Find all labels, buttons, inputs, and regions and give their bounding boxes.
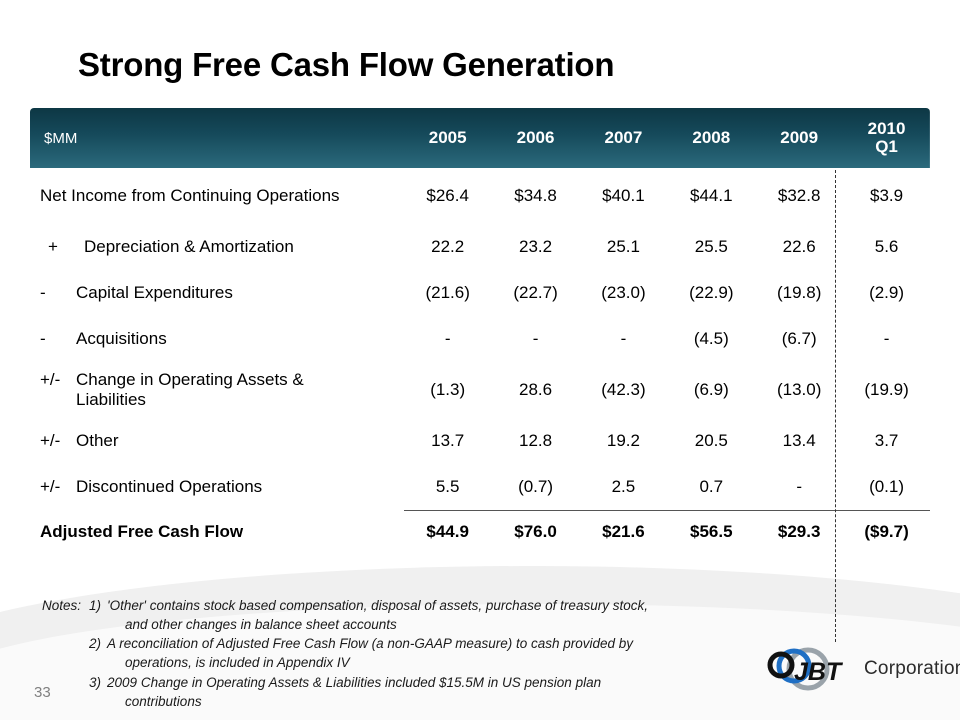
cell-capex-2010q1: (2.9) — [843, 270, 930, 316]
row-sign: +/- — [30, 477, 76, 497]
table-header-row: $MM 2005 2006 2007 2008 2009 2010 Q1 — [30, 108, 930, 168]
cell-other-2008: 20.5 — [667, 418, 755, 464]
cell-discontinued-2007: 2.5 — [579, 464, 667, 510]
cell-change-2006: 28.6 — [492, 362, 580, 418]
cell-change-2005: (1.3) — [404, 362, 492, 418]
cell-capex-2006: (22.7) — [492, 270, 580, 316]
note-body: 2009 Change in Operating Assets & Liabil… — [107, 673, 802, 711]
note-item: 2) A reconciliation of Adjusted Free Cas… — [89, 634, 802, 672]
row-label-acquisitions: -Acquisitions — [30, 316, 404, 362]
slide-canvas: Strong Free Cash Flow Generation $MM 200… — [0, 0, 960, 720]
note-body: 'Other' contains stock based compensatio… — [107, 596, 802, 634]
cell-discontinued-2010q1: (0.1) — [843, 464, 930, 510]
column-header-unit: $MM — [30, 108, 404, 168]
table-row: +/-Other 13.7 12.8 19.2 20.5 13.4 3.7 — [30, 418, 930, 464]
cell-total-2008: $56.5 — [667, 510, 755, 554]
cell-other-2009: 13.4 — [755, 418, 843, 464]
cell-change-2007: (42.3) — [579, 362, 667, 418]
row-label-text: Capital Expenditures — [76, 283, 233, 303]
note-number: 3) — [89, 673, 107, 711]
table-total-row: Adjusted Free Cash Flow $44.9 $76.0 $21.… — [30, 510, 930, 554]
cell-acquisitions-2005: - — [404, 316, 492, 362]
column-header-2005: 2005 — [404, 108, 492, 168]
note-number: 1) — [89, 596, 107, 634]
row-label-other: +/-Other — [30, 418, 404, 464]
notes-list: 1) 'Other' contains stock based compensa… — [89, 596, 802, 711]
row-label-text: Net Income from Continuing Operations — [30, 186, 340, 206]
svg-text:JBT: JBT — [794, 658, 844, 686]
page-number: 33 — [34, 684, 51, 701]
quarter-column-divider — [835, 170, 836, 642]
logo-wordmark: Corporation — [864, 658, 960, 680]
cell-change-2009: (13.0) — [755, 362, 843, 418]
cell-capex-2007: (23.0) — [579, 270, 667, 316]
cell-discontinued-2005: 5.5 — [404, 464, 492, 510]
notes-block: Notes: 1) 'Other' contains stock based c… — [42, 596, 802, 711]
cell-capex-2009: (19.8) — [755, 270, 843, 316]
row-sign: +/- — [30, 370, 76, 390]
row-sign: + — [30, 237, 84, 257]
cell-discontinued-2008: 0.7 — [667, 464, 755, 510]
cash-flow-table: $MM 2005 2006 2007 2008 2009 2010 Q1 — [30, 108, 930, 554]
row-sign: +/- — [30, 431, 76, 451]
table-body: Net Income from Continuing Operations $2… — [30, 168, 930, 554]
row-label-text: Change in Operating Assets & Liabilities — [76, 370, 371, 410]
table-row: +/-Change in Operating Assets & Liabilit… — [30, 362, 930, 418]
cell-net-income-2008: $44.1 — [667, 168, 755, 224]
cell-acquisitions-2010q1: - — [843, 316, 930, 362]
cell-other-2005: 13.7 — [404, 418, 492, 464]
column-header-2009: 2009 — [755, 108, 843, 168]
cell-depreciation-2009: 22.6 — [755, 224, 843, 270]
row-label-text: Discontinued Operations — [76, 477, 262, 497]
cell-discontinued-2009: - — [755, 464, 843, 510]
column-header-2010-quarter: Q1 — [843, 138, 930, 156]
note-line: contributions — [107, 692, 802, 711]
column-header-2010-year: 2010 — [843, 120, 930, 138]
column-header-2006: 2006 — [492, 108, 580, 168]
column-header-2010-q1: 2010 Q1 — [843, 108, 930, 168]
cell-depreciation-2005: 22.2 — [404, 224, 492, 270]
cell-depreciation-2006: 23.2 — [492, 224, 580, 270]
cell-acquisitions-2007: - — [579, 316, 667, 362]
row-label-discontinued-operations: +/-Discontinued Operations — [30, 464, 404, 510]
cell-discontinued-2006: (0.7) — [492, 464, 580, 510]
cell-change-2010q1: (19.9) — [843, 362, 930, 418]
cell-acquisitions-2006: - — [492, 316, 580, 362]
cell-other-2006: 12.8 — [492, 418, 580, 464]
jbt-logo-icon: JBT — [764, 644, 860, 694]
row-label-text: Other — [76, 431, 119, 451]
cell-total-2010q1: ($9.7) — [843, 510, 930, 554]
cell-net-income-2007: $40.1 — [579, 168, 667, 224]
row-label-text: Depreciation & Amortization — [84, 237, 294, 257]
cash-flow-table-container: $MM 2005 2006 2007 2008 2009 2010 Q1 — [30, 108, 930, 554]
cell-acquisitions-2008: (4.5) — [667, 316, 755, 362]
cell-total-2005: $44.9 — [404, 510, 492, 554]
row-label-adjusted-free-cash-flow: Adjusted Free Cash Flow — [30, 510, 404, 554]
cell-other-2010q1: 3.7 — [843, 418, 930, 464]
cell-net-income-2006: $34.8 — [492, 168, 580, 224]
jbt-corporation-logo: JBT Corporation — [764, 640, 954, 698]
row-sign: - — [30, 329, 76, 349]
note-number: 2) — [89, 634, 107, 672]
row-label-depreciation: +Depreciation & Amortization — [30, 224, 404, 270]
note-body: A reconciliation of Adjusted Free Cash F… — [107, 634, 802, 672]
cell-net-income-2009: $32.8 — [755, 168, 843, 224]
column-header-2008: 2008 — [667, 108, 755, 168]
table-row: -Acquisitions - - - (4.5) (6.7) - — [30, 316, 930, 362]
note-line: operations, is included in Appendix IV — [107, 653, 802, 672]
cell-total-2009: $29.3 — [755, 510, 843, 554]
note-line: A reconciliation of Adjusted Free Cash F… — [107, 634, 802, 653]
cell-depreciation-2007: 25.1 — [579, 224, 667, 270]
cell-acquisitions-2009: (6.7) — [755, 316, 843, 362]
table-row: +/-Discontinued Operations 5.5 (0.7) 2.5… — [30, 464, 930, 510]
note-line: 2009 Change in Operating Assets & Liabil… — [107, 673, 802, 692]
note-line: and other changes in balance sheet accou… — [107, 615, 802, 634]
column-header-2007: 2007 — [579, 108, 667, 168]
note-item: 1) 'Other' contains stock based compensa… — [89, 596, 802, 634]
cell-change-2008: (6.9) — [667, 362, 755, 418]
row-label-change-operating-assets: +/-Change in Operating Assets & Liabilit… — [30, 362, 404, 418]
note-line: 'Other' contains stock based compensatio… — [107, 596, 802, 615]
cell-depreciation-2010q1: 5.6 — [843, 224, 930, 270]
cell-capex-2008: (22.9) — [667, 270, 755, 316]
cell-total-2006: $76.0 — [492, 510, 580, 554]
cell-depreciation-2008: 25.5 — [667, 224, 755, 270]
cell-capex-2005: (21.6) — [404, 270, 492, 316]
row-sign: - — [30, 283, 76, 303]
table-row: +Depreciation & Amortization 22.2 23.2 2… — [30, 224, 930, 270]
note-item: 3) 2009 Change in Operating Assets & Lia… — [89, 673, 802, 711]
table-header: $MM 2005 2006 2007 2008 2009 2010 Q1 — [30, 108, 930, 168]
cell-net-income-2010q1: $3.9 — [843, 168, 930, 224]
cell-total-2007: $21.6 — [579, 510, 667, 554]
table-row: -Capital Expenditures (21.6) (22.7) (23.… — [30, 270, 930, 316]
notes-row: Notes: 1) 'Other' contains stock based c… — [42, 596, 802, 711]
page-title: Strong Free Cash Flow Generation — [78, 46, 614, 84]
cell-other-2007: 19.2 — [579, 418, 667, 464]
cell-net-income-2005: $26.4 — [404, 168, 492, 224]
row-label-text: Acquisitions — [76, 329, 167, 349]
row-label-net-income: Net Income from Continuing Operations — [30, 168, 404, 224]
table-row: Net Income from Continuing Operations $2… — [30, 168, 930, 224]
row-label-capex: -Capital Expenditures — [30, 270, 404, 316]
